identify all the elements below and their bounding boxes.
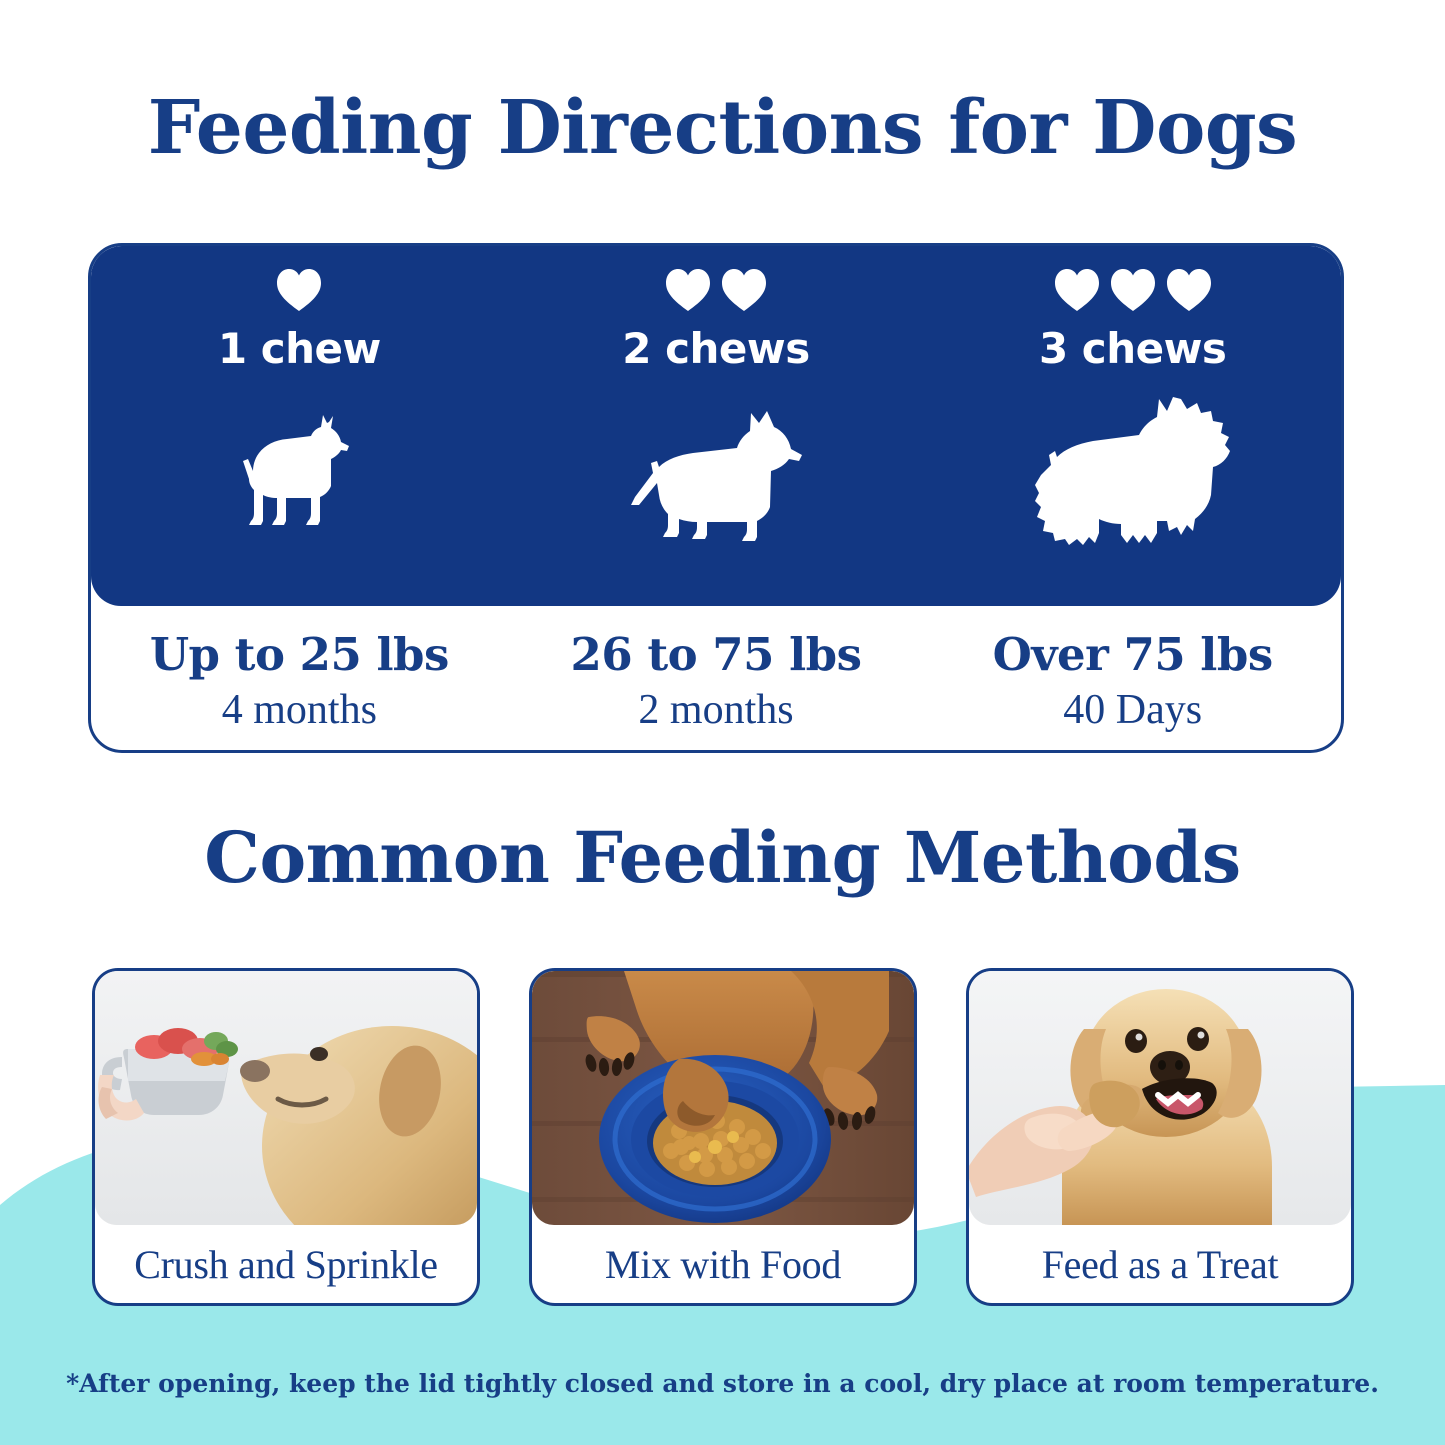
chew-count-label: 3 chews (1039, 326, 1226, 372)
dosage-column-large: 3 chews (924, 246, 1341, 606)
medium-dog-silhouette-icon (629, 390, 804, 560)
heart-icon (665, 268, 711, 312)
storage-note: *After opening, keep the lid tightly clo… (0, 1368, 1445, 1400)
feeding-methods-row: Crush and Sprinkle (92, 968, 1354, 1308)
weight-range-label: Over 75 lbs (993, 629, 1273, 681)
supply-duration-label: 4 months (222, 685, 377, 735)
heart-icon (721, 268, 767, 312)
weight-column-medium: 26 to 75 lbs 2 months (508, 611, 925, 751)
method-caption: Mix with Food (532, 1225, 914, 1303)
page-title: Feeding Directions for Dogs (0, 86, 1445, 170)
chew-dosage-panel: 1 chew (91, 246, 1341, 606)
supply-duration-label: 40 Days (1063, 685, 1202, 735)
section-title-methods: Common Feeding Methods (0, 818, 1445, 898)
dosage-column-medium: 2 chews (508, 246, 925, 606)
method-card-feed-as-a-treat: Feed as a Treat (966, 968, 1354, 1306)
heart-icon (1110, 268, 1156, 312)
feeding-directions-card: 1 chew (88, 243, 1344, 753)
dosage-column-small: 1 chew (91, 246, 508, 606)
weight-column-large: Over 75 lbs 40 Days (924, 611, 1341, 751)
heart-icon (1054, 268, 1100, 312)
hand-feeding-treat-to-dog-photo (969, 971, 1351, 1225)
weight-range-label: 26 to 75 lbs (571, 629, 862, 681)
heart-count-1 (276, 268, 322, 316)
weight-ranges-row: Up to 25 lbs 4 months 26 to 75 lbs 2 mon… (91, 611, 1341, 751)
method-caption: Feed as a Treat (969, 1225, 1351, 1303)
dog-sniffing-food-bowl-photo (95, 971, 477, 1225)
chew-count-label: 1 chew (218, 326, 381, 372)
chew-count-label: 2 chews (622, 326, 809, 372)
small-dog-silhouette-icon (239, 390, 359, 560)
feeding-directions-page: Feeding Directions for Dogs 1 chew (0, 0, 1445, 1445)
weight-range-label: Up to 25 lbs (150, 629, 449, 681)
weight-column-small: Up to 25 lbs 4 months (91, 611, 508, 751)
method-card-mix-with-food: Mix with Food (529, 968, 917, 1306)
heart-icon (1166, 268, 1212, 312)
heart-count-2 (665, 268, 767, 316)
method-caption: Crush and Sprinkle (95, 1225, 477, 1303)
heart-icon (276, 268, 322, 312)
supply-duration-label: 2 months (638, 685, 793, 735)
heart-count-3 (1054, 268, 1212, 316)
dog-eating-from-blue-bowl-photo (532, 971, 914, 1225)
method-card-crush-and-sprinkle: Crush and Sprinkle (92, 968, 480, 1306)
large-dog-silhouette-icon (1033, 390, 1233, 560)
